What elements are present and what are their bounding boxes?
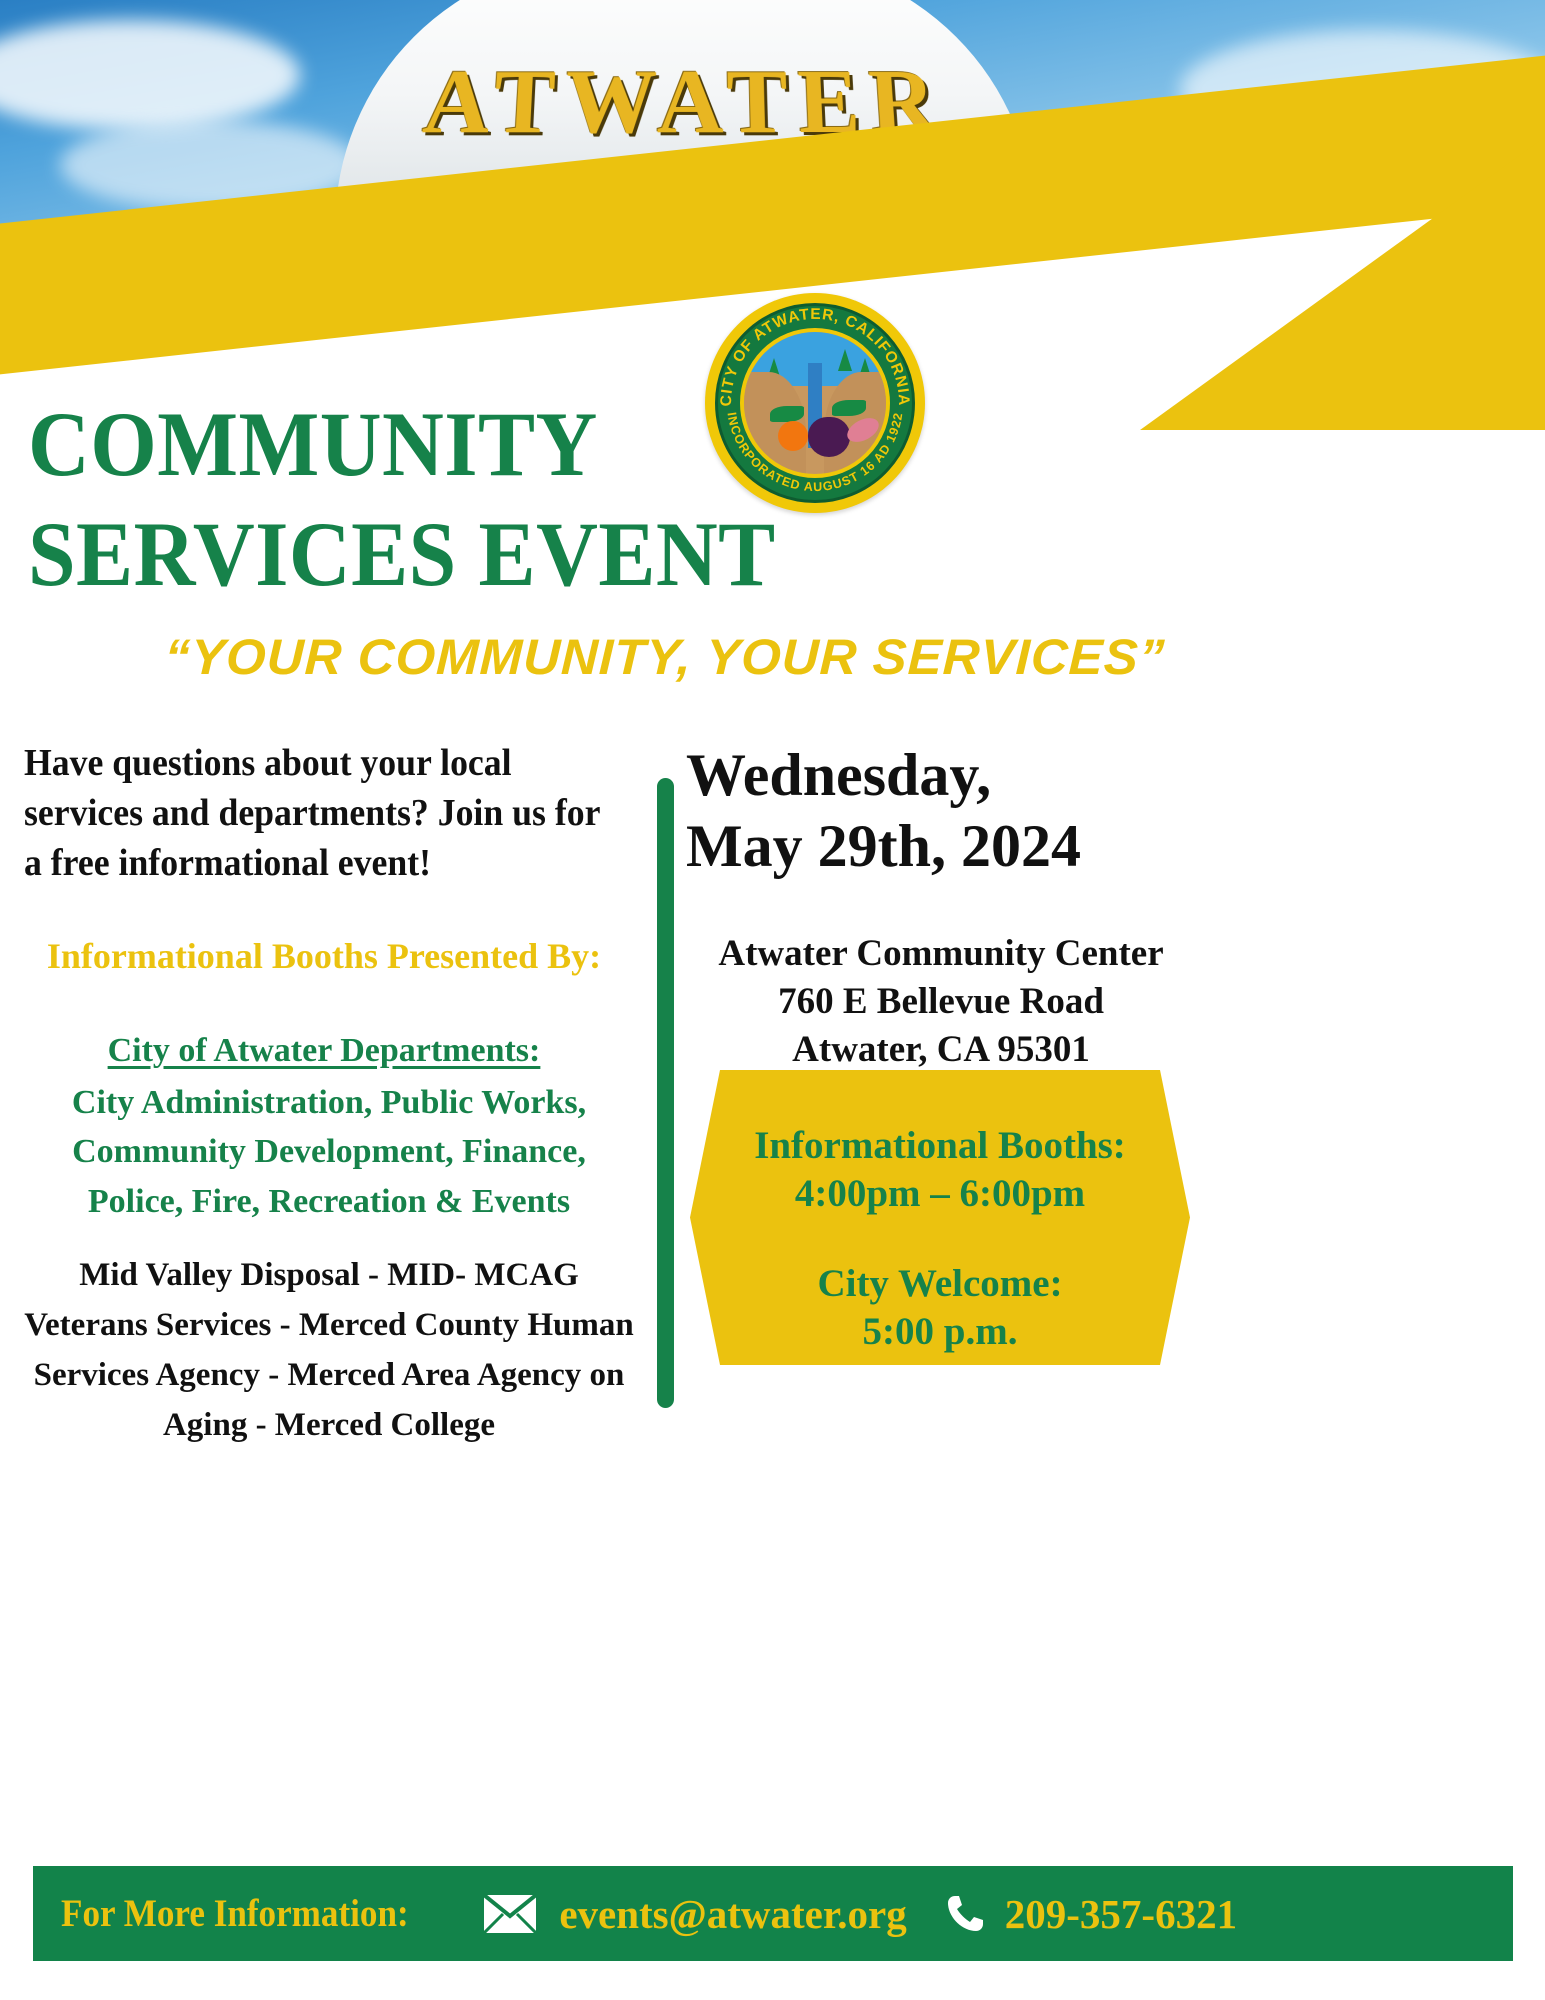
welcome-schedule-time: 5:00 p.m. <box>690 1308 1190 1356</box>
page-title-line1: COMMUNITY <box>28 398 598 492</box>
tagline: “YOUR COMMUNITY, YOUR SERVICES” <box>149 628 1181 686</box>
event-date: Wednesday, May 29th, 2024 <box>686 740 1206 882</box>
lead-paragraph: Have questions about your local services… <box>24 738 616 888</box>
more-info-label: For More Information: <box>61 1891 409 1936</box>
partner-organizations-list: Mid Valley Disposal - MID- MCAG Veterans… <box>24 1250 634 1451</box>
venue-city-state-zip: Atwater, CA 95301 <box>676 1026 1206 1074</box>
schedule-hexagon-box: Informational Booths: 4:00pm – 6:00pm Ci… <box>690 1070 1190 1365</box>
flyer-page: ATWATER <box>0 0 1545 2000</box>
vertical-divider <box>657 778 674 1408</box>
contact-phone-number: 209-357-6321 <box>1005 1890 1237 1938</box>
seal-bottom-arc-text: INCORPORATED AUGUST 16 AD 1922 <box>705 293 925 513</box>
departments-list: City Administration, Public Works, Commu… <box>24 1078 634 1226</box>
booths-schedule: Informational Booths: 4:00pm – 6:00pm <box>690 1122 1190 1217</box>
welcome-schedule-label: City Welcome: <box>690 1260 1190 1308</box>
envelope-icon <box>483 1894 537 1934</box>
event-venue: Atwater Community Center 760 E Bellevue … <box>676 930 1206 1074</box>
svg-text:INCORPORATED AUGUST 16 AD 1922: INCORPORATED AUGUST 16 AD 1922 <box>725 411 906 494</box>
contact-email-link[interactable]: events@atwater.org <box>559 1890 906 1938</box>
seal-bottom-arc-label: INCORPORATED AUGUST 16 AD 1922 <box>725 411 906 494</box>
page-title-line2: SERVICES EVENT <box>28 508 776 602</box>
event-date-line2: May 29th, 2024 <box>686 811 1206 882</box>
booths-schedule-label: Informational Booths: <box>690 1122 1190 1170</box>
welcome-schedule: City Welcome: 5:00 p.m. <box>690 1260 1190 1355</box>
city-seal: CITY OF ATWATER, CALIFORNIA INCORPORATED… <box>705 293 925 513</box>
departments-heading: City of Atwater Departments: <box>24 1032 624 1070</box>
event-date-line1: Wednesday, <box>686 740 1206 811</box>
booths-schedule-time: 4:00pm – 6:00pm <box>690 1170 1190 1218</box>
booths-presented-by-heading: Informational Booths Presented By: <box>24 932 624 980</box>
phone-icon <box>943 1892 987 1936</box>
venue-street: 760 E Bellevue Road <box>676 978 1206 1026</box>
contact-footer-bar: For More Information: events@atwater.org… <box>33 1866 1513 1961</box>
venue-name: Atwater Community Center <box>676 930 1206 978</box>
